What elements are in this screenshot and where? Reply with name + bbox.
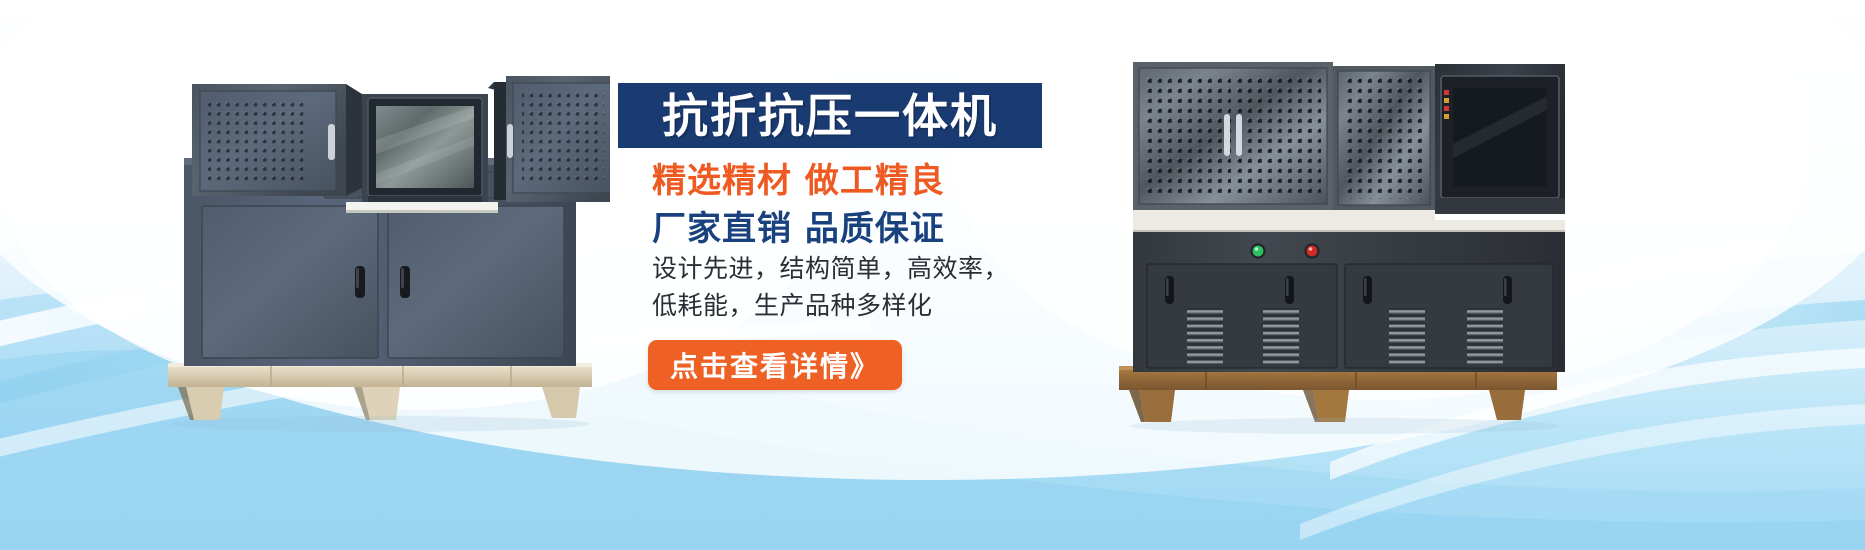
product-image-left: [150, 36, 610, 436]
headline-bar: 抗折抗压一体机: [618, 83, 1042, 148]
description-line-1: 设计先进，结构简单，高效率，: [652, 252, 1009, 286]
description-line-2: 低耗能，生产品种多样化: [652, 289, 933, 323]
subheading-1: 精选精材 做工精良: [652, 160, 945, 202]
green-indicator-right: [1253, 246, 1264, 257]
cta-button[interactable]: 点击查看详情》: [648, 340, 902, 390]
product-image-right: [1105, 36, 1585, 436]
cta-label: 点击查看详情》: [670, 345, 880, 385]
headline-text: 抗折抗压一体机: [662, 90, 998, 142]
promo-banner: 抗折抗压一体机 精选精材 做工精良 厂家直销 品质保证 设计先进，结构简单，高效…: [0, 0, 1865, 550]
red-indicator-right: [1307, 246, 1318, 257]
subheading-2: 厂家直销 品质保证: [652, 208, 945, 250]
